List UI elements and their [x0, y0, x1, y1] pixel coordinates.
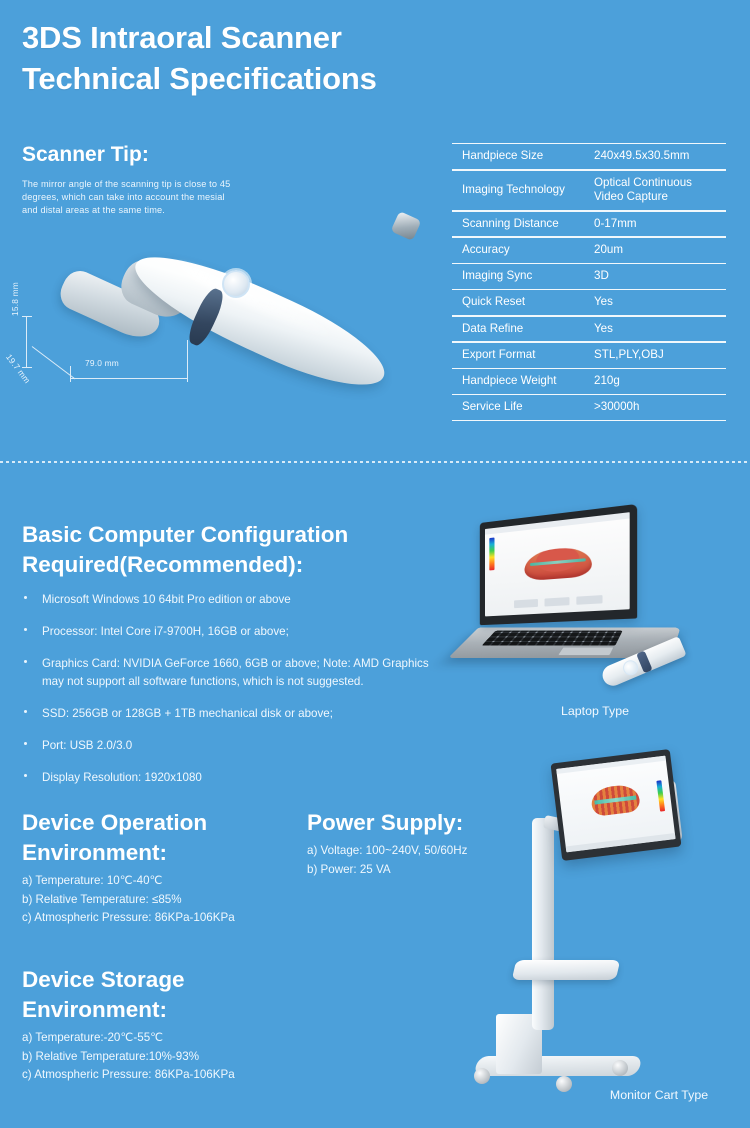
table-cell-key: Imaging Sync	[452, 264, 594, 289]
storage-environment-block: Device Storage Environment: a) Temperatu…	[22, 965, 312, 1085]
dimension-tick-left	[70, 366, 71, 382]
section-divider	[0, 461, 750, 463]
table-cell-key: Accuracy	[452, 238, 594, 263]
computer-config-heading-line2: Required(Recommended):	[22, 550, 422, 580]
color-scale-icon	[489, 537, 494, 570]
table-cell-value: 210g	[594, 369, 726, 394]
monitor-cart-caption: Monitor Cart Type	[570, 1088, 748, 1102]
laptop-trackpad	[557, 647, 614, 655]
dimension-line-height	[26, 316, 27, 368]
scanner-tip-heading: Scanner Tip:	[22, 143, 149, 167]
operation-environment-heading: Device Operation Environment:	[22, 808, 312, 868]
list-item: Graphics Card: NVIDIA GeForce 1660, 6GB …	[22, 654, 432, 692]
spec-line: c) Atmospheric Pressure: 86KPa-106KPa	[22, 1066, 312, 1085]
table-rule	[452, 289, 726, 290]
table-cell-value: Optical Continuous Video Capture	[594, 171, 726, 211]
scanner-handpiece-image	[18, 195, 438, 390]
dental-arch-scan	[525, 545, 592, 581]
spec-line: c) Atmospheric Pressure: 86KPa-106KPa	[22, 909, 312, 928]
table-rule	[452, 236, 726, 237]
table-row: Accuracy20um	[452, 238, 726, 263]
table-cell-value: 240x49.5x30.5mm	[594, 144, 726, 169]
table-cell-key: Quick Reset	[452, 290, 594, 315]
table-rule	[452, 210, 726, 211]
table-cell-key: Data Refine	[452, 317, 594, 342]
table-rule	[452, 368, 726, 369]
software-button	[514, 599, 538, 608]
software-buttons	[514, 595, 602, 608]
laptop-screen	[485, 512, 630, 616]
list-item-label: Port: USB 2.0/3.0	[42, 739, 132, 752]
spec-line: a) Temperature: 10℃-40℃	[22, 872, 312, 891]
storage-environment-heading: Device Storage Environment:	[22, 965, 312, 1025]
computer-config-heading: Basic Computer Configuration Required(Re…	[22, 520, 422, 579]
operation-environment-heading-line2: Environment:	[22, 838, 312, 868]
bullet-icon	[24, 660, 27, 663]
table-row: Quick ResetYes	[452, 290, 726, 315]
table-rule	[452, 263, 726, 264]
computer-config-list: Microsoft Windows 10 64bit Pro edition o…	[22, 590, 432, 800]
specification-table: Handpiece Size240x49.5x30.5mmImaging Tec…	[452, 143, 726, 421]
laptop-product-image	[458, 512, 698, 702]
page-title: 3DS Intraoral Scanner Technical Specific…	[22, 18, 722, 100]
bullet-icon	[24, 774, 27, 777]
table-rule	[452, 420, 726, 421]
table-row: Imaging Sync3D	[452, 264, 726, 289]
table-cell-key: Imaging Technology	[452, 178, 594, 203]
table-row: Export FormatSTL,PLY,OBJ	[452, 343, 726, 368]
table-row: Handpiece Weight210g	[452, 369, 726, 394]
table-row: Imaging TechnologyOptical Continuous Vid…	[452, 171, 726, 211]
table-row: Service Life>30000h	[452, 395, 726, 420]
dimension-tick-right	[187, 340, 188, 382]
spec-line: b) Relative Temperature: ≤85%	[22, 891, 312, 910]
storage-environment-heading-line1: Device Storage	[22, 965, 312, 995]
scanner-body-part	[123, 236, 396, 405]
cart-column	[532, 818, 554, 1030]
list-item-label: SSD: 256GB or 128GB + 1TB mechanical dis…	[42, 707, 333, 720]
table-cell-value: Yes	[594, 290, 726, 315]
table-rule	[452, 315, 726, 316]
spec-line: a) Temperature:-20℃-55℃	[22, 1029, 312, 1048]
table-row: Data RefineYes	[452, 317, 726, 342]
cart-monitor	[550, 749, 681, 861]
list-item: Port: USB 2.0/3.0	[22, 736, 432, 755]
cart-tray	[512, 960, 621, 980]
table-cell-value: >30000h	[594, 395, 726, 420]
dimension-line-length	[70, 378, 188, 379]
software-toolbar	[485, 512, 630, 535]
laptop-keyboard	[482, 631, 622, 646]
storage-environment-lines: a) Temperature:-20℃-55℃b) Relative Tempe…	[22, 1029, 312, 1085]
cart-monitor-screen	[556, 756, 675, 853]
dimension-tick-top	[22, 316, 32, 317]
page-title-line2: Technical Specifications	[22, 59, 722, 100]
cart-wheel	[474, 1068, 490, 1084]
storage-environment-heading-line2: Environment:	[22, 995, 312, 1025]
table-cell-value: 0-17mm	[594, 212, 726, 237]
cart-wheel	[612, 1060, 628, 1076]
table-cell-value: STL,PLY,OBJ	[594, 343, 726, 368]
table-cell-key: Handpiece Weight	[452, 369, 594, 394]
table-row: Handpiece Size240x49.5x30.5mm	[452, 144, 726, 169]
dimension-label-height: 15.8 mm	[10, 282, 20, 316]
table-rule	[452, 394, 726, 395]
list-item-label: Processor: Intel Core i7-9700H, 16GB or …	[42, 625, 289, 638]
laptop-lid	[480, 504, 637, 625]
software-button	[545, 597, 570, 606]
page-title-line1: 3DS Intraoral Scanner	[22, 18, 722, 59]
software-statusbar	[566, 833, 676, 852]
table-cell-value: 3D	[594, 264, 726, 289]
laptop-caption: Laptop Type	[502, 704, 688, 718]
color-scale-icon	[656, 780, 665, 812]
table-cell-key: Export Format	[452, 343, 594, 368]
table-rule	[452, 143, 726, 144]
bullet-icon	[24, 710, 27, 713]
list-item: Display Resolution: 1920x1080	[22, 768, 432, 787]
bullet-icon	[24, 628, 27, 631]
spec-line: b) Relative Temperature:10%-93%	[22, 1048, 312, 1067]
operation-environment-lines: a) Temperature: 10℃-40℃b) Relative Tempe…	[22, 872, 312, 928]
list-item: SSD: 256GB or 128GB + 1TB mechanical dis…	[22, 704, 432, 723]
list-item-label: Graphics Card: NVIDIA GeForce 1660, 6GB …	[42, 657, 429, 689]
list-item: Microsoft Windows 10 64bit Pro edition o…	[22, 590, 432, 609]
operation-environment-heading-line1: Device Operation	[22, 808, 312, 838]
monitor-cart-product-image	[470, 756, 730, 1086]
computer-config-heading-line1: Basic Computer Configuration	[22, 520, 422, 550]
list-item: Processor: Intel Core i7-9700H, 16GB or …	[22, 622, 432, 641]
scanner-rear-connector	[391, 211, 422, 241]
table-rule	[452, 169, 726, 170]
bullet-icon	[24, 596, 27, 599]
table-cell-key: Scanning Distance	[452, 212, 594, 237]
table-cell-value: 20um	[594, 238, 726, 263]
table-cell-key: Service Life	[452, 395, 594, 420]
spec-sheet-page: 3DS Intraoral Scanner Technical Specific…	[0, 0, 750, 1128]
software-toolbar	[556, 756, 666, 774]
bullet-icon	[24, 742, 27, 745]
table-cell-key: Handpiece Size	[452, 144, 594, 169]
table-rule	[452, 341, 726, 342]
dimension-label-length: 79.0 mm	[85, 358, 119, 368]
dental-arch-scan	[590, 783, 642, 817]
table-cell-value: Yes	[594, 317, 726, 342]
list-item-label: Microsoft Windows 10 64bit Pro edition o…	[42, 593, 291, 606]
list-item-label: Display Resolution: 1920x1080	[42, 771, 202, 784]
software-button	[577, 595, 603, 605]
scanner-button	[222, 270, 250, 298]
operation-environment-block: Device Operation Environment: a) Tempera…	[22, 808, 312, 928]
table-row: Scanning Distance0-17mm	[452, 212, 726, 237]
